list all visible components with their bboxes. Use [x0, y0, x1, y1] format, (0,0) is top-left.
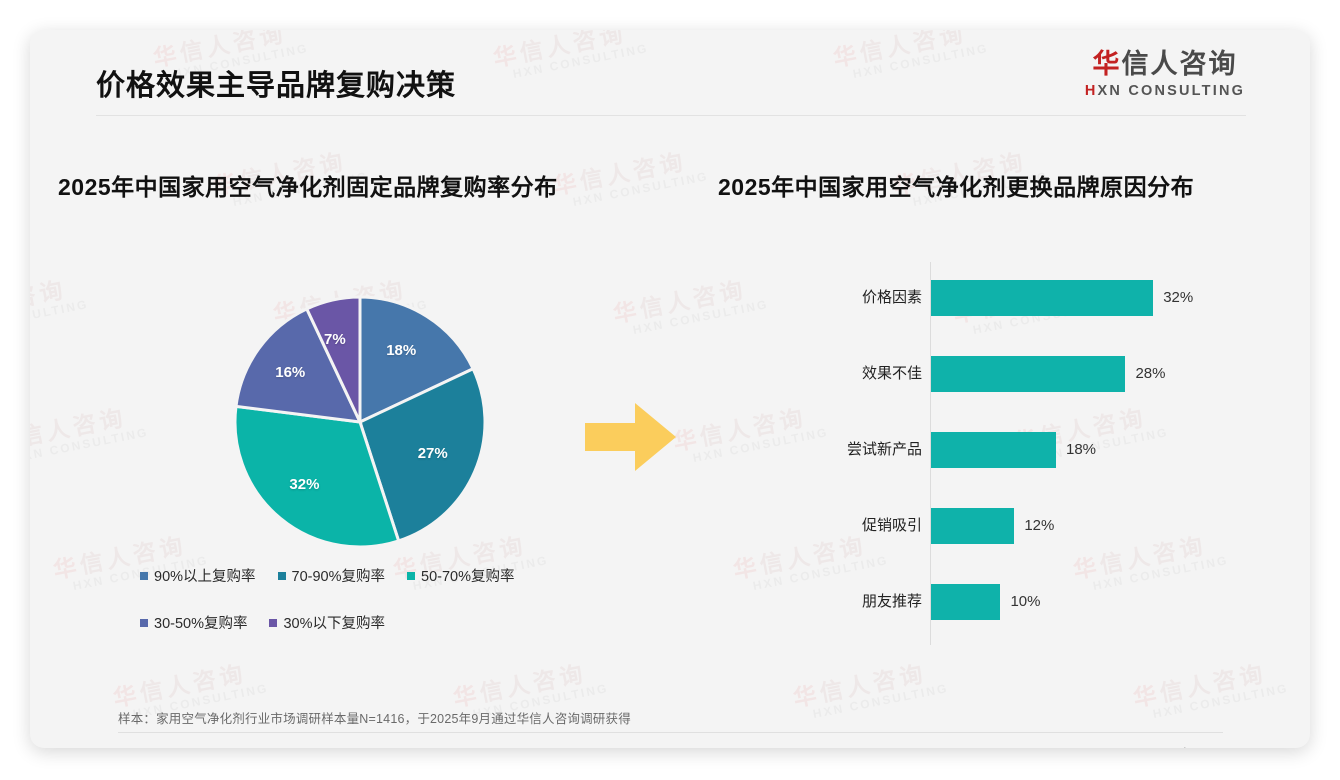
- watermark: 华信人咨询HXN CONSULTING: [30, 267, 90, 341]
- slide-card: 华信人咨询HXN CONSULTING华信人咨询HXN CONSULTING华信…: [30, 30, 1310, 748]
- right-arrow-icon: [583, 397, 678, 482]
- pie-legend-label: 30-50%复购率: [154, 612, 247, 633]
- watermark: 华信人咨询HXN CONSULTING: [30, 395, 150, 469]
- header-divider: [96, 115, 1246, 116]
- logo-english-mark: H: [1085, 83, 1098, 99]
- pie-legend-row-1: 90%以上复购率70-90%复购率50-70%复购率: [140, 565, 610, 586]
- bar-fill: [931, 280, 1153, 316]
- page-title: 价格效果主导品牌复购决策: [96, 62, 456, 104]
- bar-row: 尝试新产品18%: [810, 432, 1280, 468]
- pie-legend-label: 30%以下复购率: [283, 612, 385, 633]
- bar-value-label: 32%: [1163, 280, 1193, 316]
- slide-header: 价格效果主导品牌复购决策 华信人咨询 HXN CONSULTING: [30, 30, 1310, 120]
- pie-legend: 90%以上复购率70-90%复购率50-70%复购率 30-50%复购率30%以…: [140, 565, 610, 659]
- logo-english: HXN CONSULTING: [1060, 83, 1270, 99]
- legend-swatch-icon: [269, 619, 277, 627]
- bar-row: 效果不佳28%: [810, 356, 1280, 392]
- pie-chart-title: 2025年中国家用空气净化剂固定品牌复购率分布: [58, 168, 558, 202]
- pie-legend-item: 90%以上复购率: [140, 565, 256, 586]
- bar-category-label: 效果不佳: [862, 356, 922, 392]
- bar-fill: [931, 508, 1014, 544]
- pie-svg: [210, 280, 510, 570]
- pie-legend-item: 70-90%复购率: [278, 565, 385, 586]
- footer-divider: [118, 732, 1223, 733]
- bar-category-label: 促销吸引: [862, 508, 922, 544]
- pie-slice-label: 27%: [418, 445, 448, 462]
- pie-legend-item: 30-50%复购率: [140, 612, 247, 633]
- bar-fill: [931, 432, 1056, 468]
- legend-swatch-icon: [140, 572, 148, 580]
- bar-value-label: 18%: [1066, 432, 1096, 468]
- pie-slice-label: 16%: [275, 364, 305, 381]
- pie-legend-label: 70-90%复购率: [292, 565, 385, 586]
- footer-website: www.hxrcon.com: [1154, 746, 1248, 748]
- pie-slice-label: 7%: [324, 331, 346, 348]
- bar-category-label: 朋友推荐: [862, 584, 922, 620]
- bar-chart-title: 2025年中国家用空气净化剂更换品牌原因分布: [718, 168, 1194, 202]
- source-footnote: 样本：家用空气净化剂行业市场调研样本量N=1416，于2025年9月通过华信人咨…: [118, 708, 631, 727]
- bar-row: 朋友推荐10%: [810, 584, 1280, 620]
- pie-legend-item: 50-70%复购率: [407, 565, 514, 586]
- legend-swatch-icon: [140, 619, 148, 627]
- company-logo: 华信人咨询 HXN CONSULTING: [1060, 50, 1270, 99]
- watermark: 华信人咨询HXN CONSULTING: [550, 139, 710, 213]
- switch-reason-bar-chart: 价格因素32%效果不佳28%尝试新产品18%促销吸引12%朋友推荐10%: [810, 262, 1280, 682]
- repurchase-rate-pie-chart: 18%27%32%16%7%: [210, 280, 510, 575]
- bar-value-label: 28%: [1135, 356, 1165, 392]
- legend-swatch-icon: [278, 572, 286, 580]
- pie-slice-label: 32%: [289, 476, 319, 493]
- bar-row: 促销吸引12%: [810, 508, 1280, 544]
- pie-legend-item: 30%以下复购率: [269, 612, 385, 633]
- bar-category-label: 价格因素: [862, 280, 922, 316]
- bar-row: 价格因素32%: [810, 280, 1280, 316]
- arrow-svg: [583, 397, 678, 477]
- bar-value-label: 10%: [1010, 584, 1040, 620]
- footer-copyright: ©2025.11 HXR华信人咨询: [100, 746, 246, 748]
- watermark: 华信人咨询HXN CONSULTING: [610, 267, 770, 341]
- logo-english-rest: XN CONSULTING: [1098, 83, 1246, 99]
- watermark: 华信人咨询HXN CONSULTING: [670, 395, 830, 469]
- bar-fill: [931, 356, 1125, 392]
- pie-legend-label: 90%以上复购率: [154, 565, 256, 586]
- pie-slice-label: 18%: [386, 342, 416, 359]
- logo-chinese: 华信人咨询: [1060, 50, 1270, 80]
- bar-category-label: 尝试新产品: [847, 432, 922, 468]
- pie-legend-label: 50-70%复购率: [421, 565, 514, 586]
- bar-value-label: 12%: [1024, 508, 1054, 544]
- logo-chinese-first-char: 华: [1093, 49, 1122, 79]
- pie-legend-row-2: 30-50%复购率30%以下复购率: [140, 612, 610, 633]
- legend-swatch-icon: [407, 572, 415, 580]
- logo-chinese-rest: 信人咨询: [1122, 49, 1238, 79]
- bar-fill: [931, 584, 1000, 620]
